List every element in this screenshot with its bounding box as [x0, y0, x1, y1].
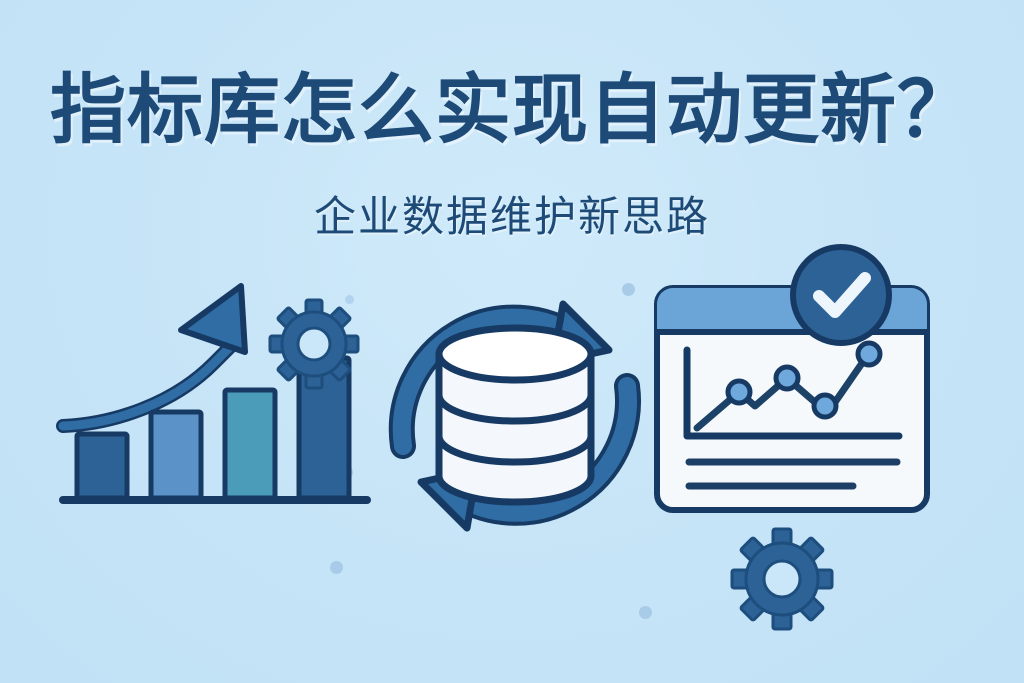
baseline-axis — [59, 496, 371, 504]
page-subtitle: 企业数据维护新思路 — [0, 196, 1024, 238]
poster-canvas: 指标库怎么实现自动更新？ 企业数据维护新思路 — [0, 0, 1024, 683]
gear-icon — [268, 298, 360, 390]
bar-1 — [77, 434, 127, 498]
check-circle-badge — [793, 247, 889, 343]
data-point — [858, 343, 880, 365]
bar-2 — [151, 412, 201, 498]
data-point — [776, 367, 798, 389]
data-point — [728, 381, 750, 403]
page-title: 指标库怎么实现自动更新？ — [0, 72, 1024, 148]
bar-3 — [225, 390, 275, 498]
upward-trend-arrow — [63, 286, 245, 426]
gear-icon — [722, 522, 842, 637]
database-sync-illustration — [385, 278, 645, 553]
decor-dot-4 — [639, 606, 652, 619]
decor-dot-3 — [330, 561, 343, 574]
title-block: 指标库怎么实现自动更新？ — [0, 72, 1024, 148]
data-point — [814, 395, 836, 417]
database-cylinder-icon — [439, 328, 591, 502]
dashboard-panel-illustration — [645, 240, 945, 530]
